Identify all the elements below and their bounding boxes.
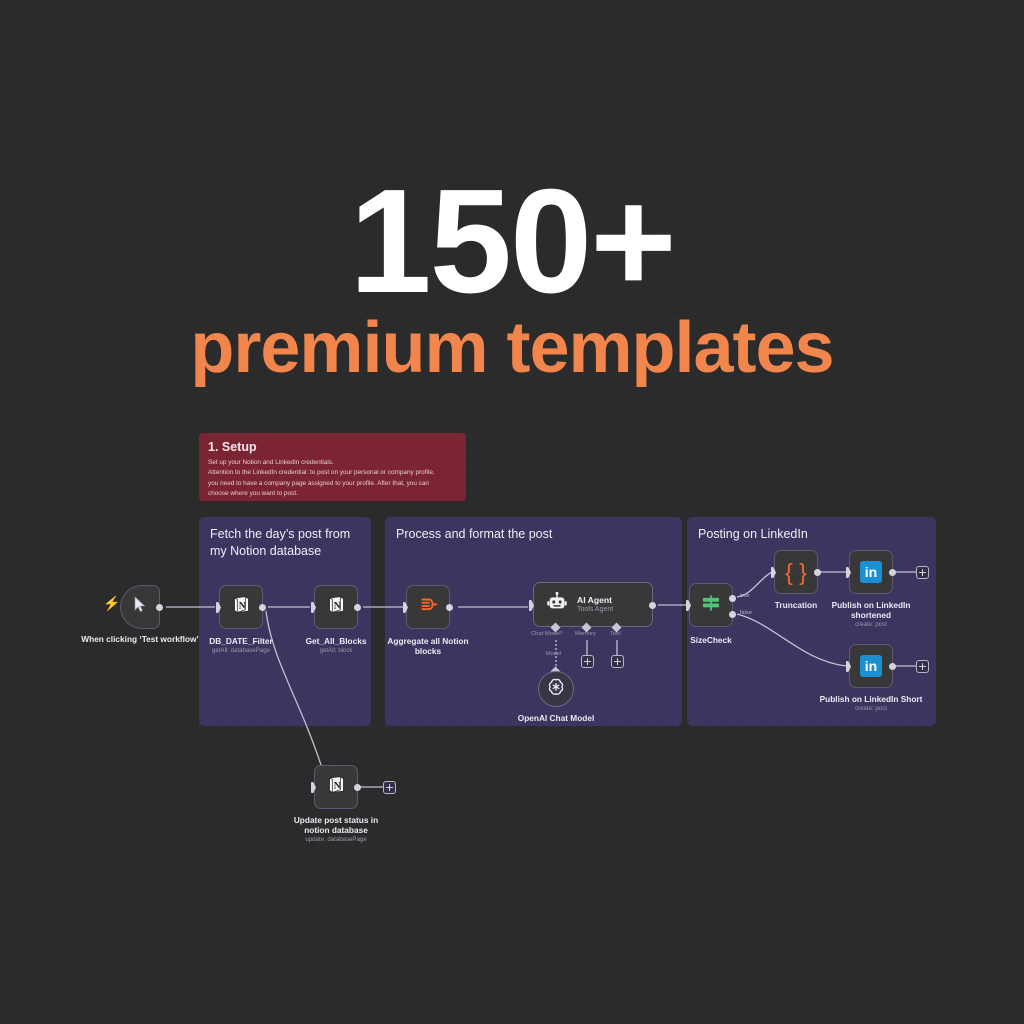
node-sub-get-all-blocks: getAll: block: [271, 647, 401, 655]
node-label-update-post-status: Update post status in notion database: [288, 815, 384, 836]
group-title: Process and format the post: [396, 526, 672, 543]
sub-port-label-chat-model: Chat Model*: [531, 631, 563, 637]
node-publish-linkedin-short[interactable]: in: [849, 644, 893, 688]
node-label-ai-agent: AI Agent: [577, 595, 613, 605]
sticky-note-line: choose where you want to post.: [208, 489, 457, 499]
sticky-note-setup[interactable]: 1. Setup Set up your Notion and LinkedIn…: [199, 433, 466, 501]
svg-text:N: N: [238, 600, 245, 611]
output-port[interactable]: [156, 604, 163, 611]
node-aggregate-notion-blocks[interactable]: [406, 585, 450, 629]
group-title: Posting on LinkedIn: [698, 526, 926, 543]
branch-label-true: true: [740, 593, 750, 599]
input-port[interactable]: [686, 600, 691, 611]
sticky-note-line: Set up your Notion and LinkedIn credenti…: [208, 458, 457, 468]
sticky-note-body: Set up your Notion and LinkedIn credenti…: [208, 458, 457, 499]
output-port[interactable]: [649, 602, 656, 609]
node-label-publish-short: Publish on LinkedIn Short: [813, 694, 929, 704]
input-port[interactable]: [529, 600, 534, 611]
output-port[interactable]: [354, 784, 361, 791]
input-port[interactable]: [311, 782, 316, 793]
notion-icon: N: [231, 594, 252, 620]
svg-text:N: N: [333, 600, 340, 611]
node-manual-trigger[interactable]: [120, 585, 160, 629]
node-size-check[interactable]: [689, 583, 733, 627]
input-port[interactable]: [846, 567, 851, 578]
node-update-post-status[interactable]: N: [314, 765, 358, 809]
node-ai-agent[interactable]: AI Agent Tools Agent: [533, 582, 653, 627]
poster-canvas: 150+ premium templates 1. Setup Set up y…: [0, 0, 1024, 1024]
output-port[interactable]: [889, 663, 896, 670]
node-sub-ai-agent: Tools Agent: [577, 605, 613, 614]
output-port[interactable]: [814, 569, 821, 576]
aggregate-icon: [417, 594, 439, 621]
lightning-bolt-icon: ⚡: [103, 596, 120, 610]
node-publish-linkedin-shortened[interactable]: in: [849, 550, 893, 594]
input-port[interactable]: [403, 602, 408, 613]
sub-port-label-memory: Memory: [575, 631, 596, 637]
input-port[interactable]: [311, 602, 316, 613]
notion-icon: N: [326, 594, 347, 620]
add-tool-button[interactable]: +: [611, 655, 624, 668]
output-port-false[interactable]: [729, 611, 736, 618]
notion-icon: N: [326, 774, 347, 800]
add-memory-button[interactable]: +: [581, 655, 594, 668]
sticky-note-line: you need to have a company page assigned…: [208, 479, 457, 489]
node-label-publish-shortened: Publish on LinkedIn shortened: [825, 600, 917, 621]
node-label-size-check: SizeCheck: [646, 635, 776, 645]
connector-label-model: Model: [546, 651, 561, 657]
openai-icon: [545, 676, 567, 703]
node-openai-chat-model[interactable]: [538, 671, 574, 707]
connector-wires: [0, 0, 1024, 1024]
linkedin-icon: in: [860, 655, 882, 677]
workflow-canvas[interactable]: 1. Setup Set up your Notion and LinkedIn…: [0, 0, 1024, 1024]
signpost-icon: [700, 592, 722, 619]
output-port[interactable]: [446, 604, 453, 611]
sticky-note-line: Attention to the LinkedIn credential: to…: [208, 468, 457, 478]
input-port[interactable]: [216, 602, 221, 613]
node-label-openai: OpenAI Chat Model: [491, 713, 621, 723]
output-port[interactable]: [354, 604, 361, 611]
branch-label-false: false: [740, 610, 752, 616]
node-label-get-all-blocks: Get_All_Blocks: [271, 636, 401, 646]
robot-icon: [546, 591, 568, 618]
input-port[interactable]: [771, 567, 776, 578]
node-db-date-filter[interactable]: N: [219, 585, 263, 629]
linkedin-icon: in: [860, 561, 882, 583]
svg-text:N: N: [333, 780, 340, 791]
add-node-button[interactable]: +: [383, 781, 396, 794]
node-sub-publish-short: create: post: [806, 705, 936, 713]
add-node-button[interactable]: +: [916, 566, 929, 579]
sub-port-label-tool: Tool: [610, 631, 621, 637]
add-node-button[interactable]: +: [916, 660, 929, 673]
group-title: Fetch the day’s post from my Notion data…: [210, 526, 361, 560]
input-port[interactable]: [846, 661, 851, 672]
node-truncation[interactable]: { }: [774, 550, 818, 594]
output-port[interactable]: [259, 604, 266, 611]
node-label-aggregate: Aggregate all Notion blocks: [387, 636, 469, 657]
node-sub-update-post-status: update: databasePage: [271, 836, 401, 844]
output-port[interactable]: [889, 569, 896, 576]
sticky-note-title: 1. Setup: [208, 440, 457, 454]
cursor-icon: [134, 596, 147, 618]
node-get-all-blocks[interactable]: N: [314, 585, 358, 629]
code-braces-icon: { }: [785, 561, 807, 584]
node-sub-publish-shortened: create: post: [806, 621, 936, 629]
agent-text-block: AI Agent Tools Agent: [577, 595, 613, 614]
